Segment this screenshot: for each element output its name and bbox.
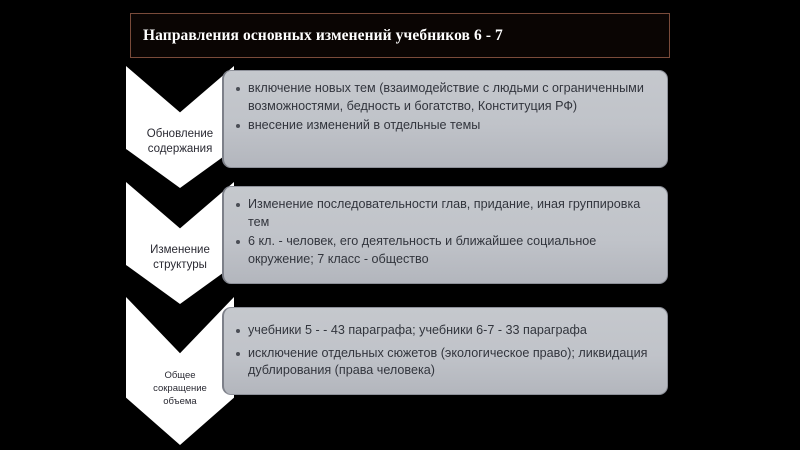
chevron-label-0: Обновление содержания xyxy=(126,97,234,157)
list-item: Изменение последовательности глав, прида… xyxy=(232,196,653,231)
slide-title-box: Направления основных изменений учебников… xyxy=(130,13,670,58)
list-item: включение новых тем (взаимодействие с лю… xyxy=(232,80,653,115)
chevron-shape-1[interactable]: Изменение структуры xyxy=(126,182,234,304)
page-title: Направления основных изменений учебников… xyxy=(131,27,503,45)
bullet-list-1: Изменение последовательности глав, прида… xyxy=(232,196,653,268)
process-row: Изменение структуры Изменение последоват… xyxy=(0,178,800,296)
content-box-2[interactable]: учебники 5 - - 43 параграфа; учебники 6-… xyxy=(222,307,668,395)
chevron-label-2: Общее сокращение объема xyxy=(126,335,234,408)
process-row: Общее сокращение объема учебники 5 - - 4… xyxy=(0,293,800,441)
bullet-list-2: учебники 5 - - 43 параграфа; учебники 6-… xyxy=(232,322,653,380)
content-box-1[interactable]: Изменение последовательности глав, прида… xyxy=(222,186,668,284)
list-item: 6 кл. - человек, его деятельность и ближ… xyxy=(232,233,653,268)
bullet-list-0: включение новых тем (взаимодействие с лю… xyxy=(232,80,653,135)
list-item: учебники 5 - - 43 параграфа; учебники 6-… xyxy=(232,322,653,340)
chevron-shape-0[interactable]: Обновление содержания xyxy=(126,66,234,188)
slide-canvas: Направления основных изменений учебников… xyxy=(0,0,800,450)
content-box-0[interactable]: включение новых тем (взаимодействие с лю… xyxy=(222,70,668,168)
process-row: Обновление содержания включение новых те… xyxy=(0,62,800,180)
chevron-shape-2[interactable]: Общее сокращение объема xyxy=(126,297,234,445)
chevron-label-1: Изменение структуры xyxy=(126,213,234,273)
list-item: исключение отдельных сюжетов (экологичес… xyxy=(232,345,653,380)
list-item: внесение изменений в отдельные темы xyxy=(232,117,653,135)
